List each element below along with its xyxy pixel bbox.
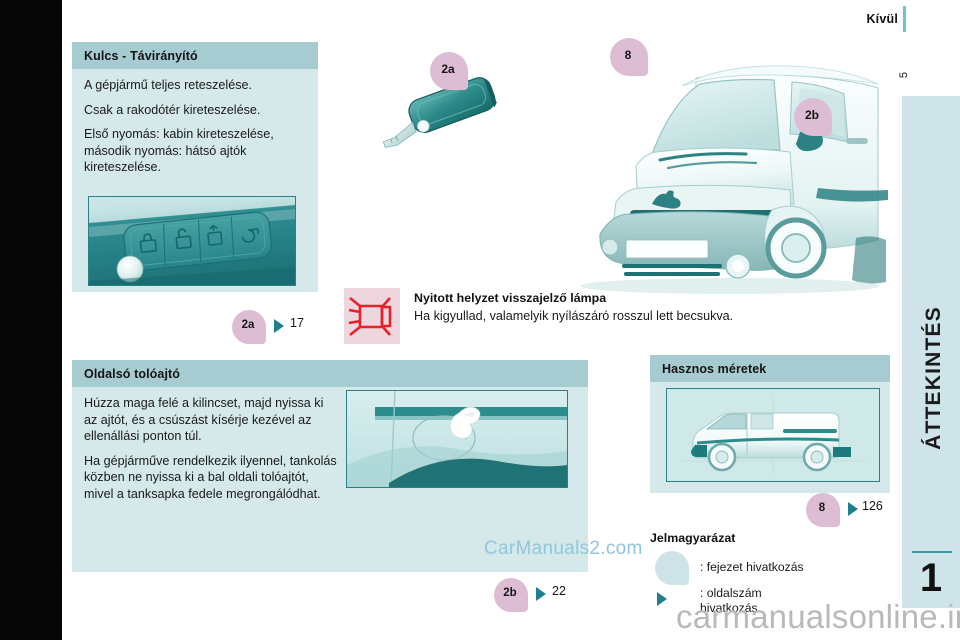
doors-open-warning-glyph	[344, 288, 400, 344]
remote-key-closeup-graphic	[89, 197, 295, 285]
key-remote-paragraph-3: Első nyomás: kabin kireteszelése, másodi…	[84, 126, 306, 176]
chapter-number: 1	[902, 558, 960, 598]
legend-chapter-pin-icon	[655, 551, 689, 585]
van-side-view-graphic	[667, 389, 879, 481]
callout-pin-2a-ref-label: 2a	[242, 319, 255, 331]
vehicle-graphic	[500, 42, 892, 294]
watermark-secondary: carmanualsonline.info	[676, 598, 960, 636]
remote-key-buttons-closeup	[88, 196, 296, 286]
panel-sliding-door-heading: Oldalsó tolóajtó	[72, 360, 588, 387]
callout-pin-8-label: 8	[625, 48, 632, 62]
watermark-primary: CarManuals2.com	[484, 538, 643, 560]
callout-pin-8-ref-label: 8	[819, 502, 825, 514]
key-remote-paragraph-2: Csak a rakodótér kireteszelése.	[84, 102, 306, 119]
callout-pin-2a-ref: 2a	[232, 310, 266, 344]
page-ref-triangle-126	[848, 502, 858, 516]
van-side-view-illustration	[666, 388, 880, 482]
panel-sliding-door-body: Húzza maga felé a kilincset, majd nyissa…	[72, 387, 352, 512]
callout-pin-8-ref: 8	[806, 493, 840, 527]
sliding-door-graphic	[347, 391, 567, 487]
page-ref-triangle-17	[274, 319, 284, 333]
warning-lamp-title: Nyitott helyzet visszajelző lámpa	[414, 291, 606, 305]
key-remote-paragraph-1: A gépjármű teljes reteszelése.	[84, 77, 306, 94]
panel-key-remote-body: A gépjármű teljes reteszelése. Csak a ra…	[72, 69, 318, 186]
page-title: Kívül	[866, 12, 898, 26]
peugeot-van-front-three-quarter	[500, 42, 892, 294]
doors-open-warning-icon	[344, 288, 400, 344]
page-ref-number-22: 22	[552, 584, 566, 598]
header-divider	[903, 6, 906, 32]
legend-title: Jelmagyarázat	[650, 531, 735, 545]
callout-pin-8: 8	[610, 38, 648, 76]
panel-useful-dimensions-heading: Hasznos méretek	[650, 355, 890, 382]
legend-page-triangle-icon	[657, 592, 667, 606]
page-ref-number-126: 126	[862, 499, 883, 513]
legend-chapter-ref-text: : fejezet hivatkozás	[700, 560, 804, 574]
chapter-tab: ÁTTEKINTÉS 1	[902, 96, 960, 608]
callout-pin-2b-label: 2b	[805, 108, 819, 122]
page-number: 5	[898, 72, 910, 78]
page-header: Kívül	[62, 0, 960, 36]
sliding-door-handle-illustration	[346, 390, 568, 488]
sliding-door-paragraph-1: Húzza maga felé a kilincset, majd nyissa…	[84, 395, 340, 445]
callout-pin-2a: 2a	[430, 52, 468, 90]
panel-key-remote-heading: Kulcs - Távirányító	[72, 42, 318, 69]
page-ref-triangle-22	[536, 587, 546, 601]
chapter-name: ÁTTEKINTÉS	[922, 168, 946, 588]
chapter-divider	[912, 551, 952, 553]
warning-lamp-text: Ha kigyullad, valamelyik nyílászáró ross…	[414, 309, 733, 323]
callout-pin-2a-label: 2a	[441, 62, 454, 76]
callout-pin-2b: 2b	[794, 98, 832, 136]
scan-left-margin	[0, 0, 62, 640]
sliding-door-paragraph-2: Ha gépjárműve rendelkezik ilyennel, tank…	[84, 453, 340, 503]
manual-page: Kívül 5 ÁTTEKINTÉS 1 Kulcs - Távirányító…	[0, 0, 960, 640]
callout-pin-2b-ref: 2b	[494, 578, 528, 612]
page-ref-number-17: 17	[290, 316, 304, 330]
callout-pin-2b-ref-label: 2b	[503, 587, 516, 599]
